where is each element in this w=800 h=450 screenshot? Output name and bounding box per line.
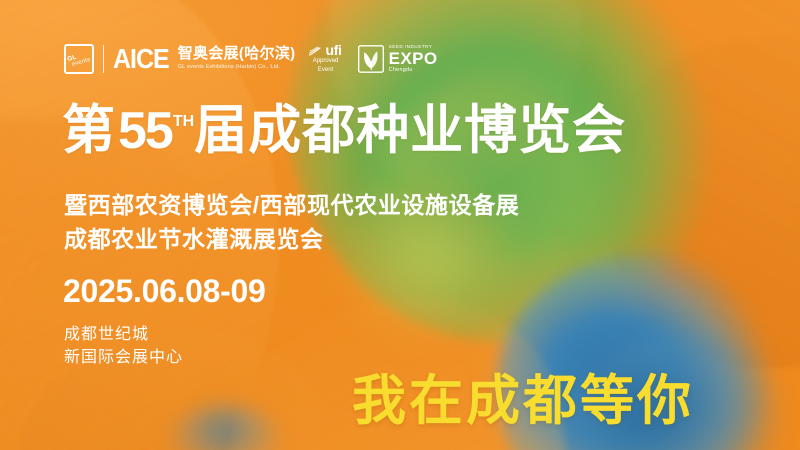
seed-industry-expo-logo: SEED INDUSTRY EXPO Chengdu <box>358 45 438 74</box>
logo-bar: GL events AICE 智奥会展(哈尔滨) GL events Exhib… <box>64 38 438 80</box>
organizer-name-en: GL events Exhibitions (Harbin) Co., Ltd. <box>178 64 296 71</box>
title-rest: 届成都种业博览会 <box>194 103 626 159</box>
title-edition-number: 55 <box>118 104 172 159</box>
ufi-approved-event-logo: ufi Approved Event <box>309 44 341 74</box>
organizer-name-block: 智奥会展(哈尔滨) GL events Exhibitions (Harbin)… <box>178 46 296 71</box>
venue-line-1: 成都世纪城 <box>64 323 183 346</box>
gl-events-logo-icon: GL events <box>64 44 94 74</box>
event-poster: GL events AICE 智奥会展(哈尔滨) GL events Exhib… <box>0 0 800 450</box>
expo-city: Chengdu <box>389 68 438 73</box>
subtitle-line-2: 成都农业节水灌溉展览会 <box>64 220 324 254</box>
event-date: 2025.06.08-09 <box>63 273 266 310</box>
page-title: 第55TH届成都种业博览会 <box>62 103 626 159</box>
ufi-approved-line2: Event <box>318 67 333 75</box>
logo-divider <box>103 45 104 73</box>
subtitle-line-1: 暨西部农资博览会/西部现代农业设施设备展 <box>64 186 519 220</box>
poster-content: GL events AICE 智奥会展(哈尔滨) GL events Exhib… <box>0 0 800 450</box>
ufi-swoosh-icon <box>309 46 323 57</box>
leaf-icon <box>358 45 384 73</box>
title-prefix: 第 <box>62 103 116 159</box>
event-venue: 成都世纪城 新国际会展中心 <box>64 323 183 369</box>
organizer-name-cn: 智奥会展(哈尔滨) <box>178 46 296 62</box>
title-ordinal-suffix: TH <box>173 114 194 131</box>
event-slogan: 我在成都等你 <box>352 356 694 435</box>
aice-wordmark: AICE <box>113 45 169 73</box>
venue-line-2: 新国际会展中心 <box>64 346 183 369</box>
ufi-wordmark: ufi <box>325 44 341 57</box>
ufi-approved-line1: Approved <box>313 58 339 66</box>
expo-wordmark: EXPO <box>389 50 438 67</box>
